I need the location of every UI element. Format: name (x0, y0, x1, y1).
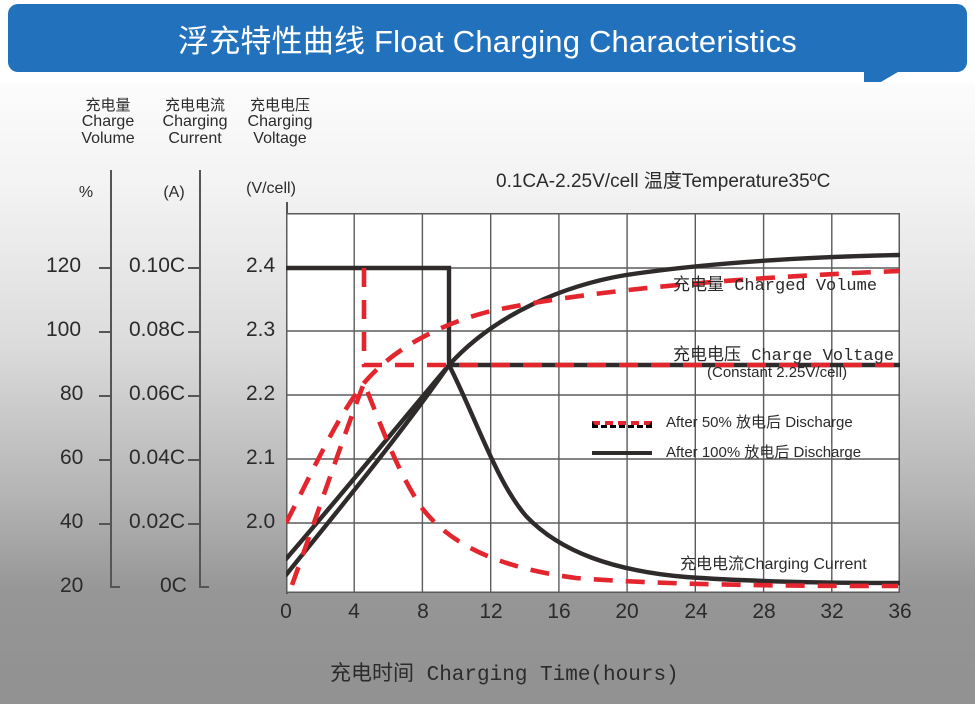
ytick-dash (188, 267, 199, 269)
ytick-dash (99, 523, 110, 525)
xaxis-title: 充电时间 Charging Time(hours) (330, 657, 679, 687)
ytick-voltage-20: 2.0 (246, 510, 275, 534)
xtick-16: 16 (539, 600, 579, 624)
ytick-voltage-21: 2.1 (246, 446, 275, 470)
ytick-current-004C: 0.04C (129, 446, 185, 470)
xtick-12: 12 (471, 600, 511, 624)
legend-item-100pct: After 100% 放电后 Discharge (592, 441, 861, 462)
annotation-charge-voltage: 充电电压 Charge Voltage (673, 340, 894, 366)
ytick-volume-100: 100 (46, 318, 81, 342)
ytick-dash (99, 459, 110, 461)
ytick-dash (188, 523, 199, 525)
axis-header-en-1: Charging (147, 114, 243, 131)
axis-rule-charge-volume (110, 170, 112, 588)
conditions-note: 0.1CA-2.25V/cell 温度Temperature35ºC (496, 166, 830, 193)
page-header-banner: 浮充特性曲线 Float Charging Characteristics (8, 4, 967, 72)
xtick-20: 20 (607, 600, 647, 624)
axis-header-en-1: Charging (232, 114, 328, 131)
ytick-current-002C: 0.02C (129, 510, 185, 534)
legend-label: After 50% 放电后 Discharge (666, 411, 853, 432)
ytick-voltage-22: 2.2 (246, 382, 275, 406)
axis-header-cn: 充电量 (60, 98, 156, 114)
ytick-dash (188, 331, 199, 333)
annotation-charging-current: 充电电流Charging Current (680, 550, 867, 574)
legend-item-50pct: After 50% 放电后 Discharge (592, 411, 853, 432)
ytick-volume-120: 120 (46, 254, 81, 278)
axis-header-cn: 充电电压 (232, 98, 328, 114)
axis-unit-ampere: (A) (150, 184, 198, 202)
ytick-volume-80: 80 (60, 382, 83, 406)
ytick-voltage-23: 2.3 (246, 318, 275, 342)
axis-header-en-2: Current (147, 131, 243, 148)
ytick-voltage-24: 2.4 (246, 254, 275, 278)
axis-unit-volt-per-cell: (V/cell) (231, 180, 311, 198)
ytick-dash (99, 395, 110, 397)
axis-header-charging-voltage: 充电电压 Charging Voltage (232, 98, 328, 148)
xtick-0: 0 (266, 600, 306, 624)
ytick-current-008C: 0.08C (129, 318, 185, 342)
axis-rule-charging-current (199, 170, 201, 588)
ytick-dash (99, 331, 110, 333)
axis-header-cn: 充电电流 (147, 98, 243, 114)
axis-header-en-2: Voltage (232, 131, 328, 148)
axis-rule-charge-volume-foot (110, 578, 120, 588)
page-title: 浮充特性曲线 Float Charging Characteristics (178, 16, 797, 61)
ytick-dash (99, 267, 110, 269)
ytick-current-006C: 0.06C (129, 382, 185, 406)
axis-rule-charging-current-foot (199, 578, 209, 588)
legend-label: After 100% 放电后 Discharge (666, 441, 861, 462)
annotation-charge-voltage-sub: (Constant 2.25V/cell) (707, 364, 847, 381)
ytick-current-0C: 0C (160, 574, 187, 598)
annotation-charged-volume: 充电量 Charged Volume (673, 270, 877, 296)
ytick-volume-40: 40 (60, 510, 83, 534)
chart-page: 浮充特性曲线 Float Charging Characteristics 充电… (0, 0, 975, 704)
xtick-8: 8 (403, 600, 443, 624)
axis-header-charge-volume: 充电量 Charge Volume (60, 98, 156, 148)
ytick-current-010C: 0.10C (129, 254, 185, 278)
xtick-24: 24 (676, 600, 716, 624)
ytick-dash (188, 459, 199, 461)
axis-unit-percent: % (66, 184, 106, 202)
ytick-dash (188, 395, 199, 397)
xtick-36: 36 (880, 600, 920, 624)
axis-header-charging-current: 充电电流 Charging Current (147, 98, 243, 148)
xtick-32: 32 (812, 600, 852, 624)
axis-header-en-2: Volume (60, 131, 156, 148)
axis-header-en-1: Charge (60, 114, 156, 131)
ytick-volume-20: 20 (60, 574, 83, 598)
legend-swatch-dashed-red (592, 415, 652, 429)
legend-swatch-solid-black (592, 445, 652, 459)
xtick-4: 4 (334, 600, 374, 624)
xtick-28: 28 (744, 600, 784, 624)
ytick-volume-60: 60 (60, 446, 83, 470)
